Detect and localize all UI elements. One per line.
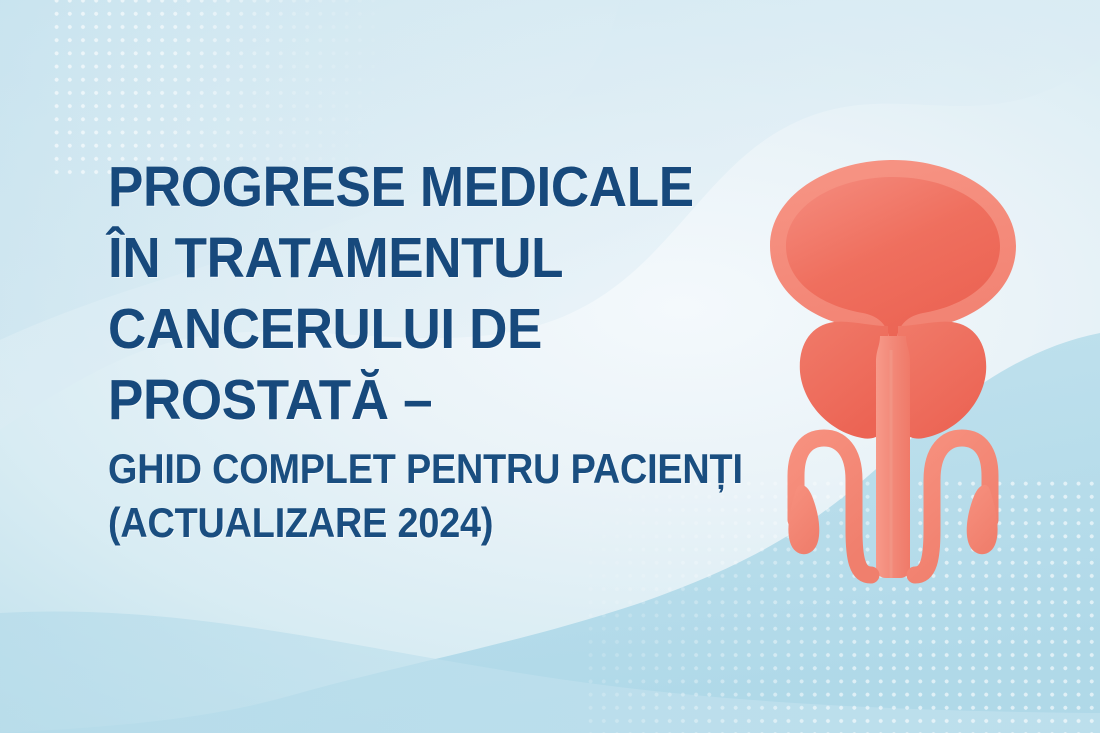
title-line-4: PROSTATĂ – (108, 365, 722, 436)
urethra (876, 336, 910, 578)
banner-canvas: PROGRESE MEDICALE ÎN TRATAMENTUL CANCERU… (0, 0, 1100, 733)
subtitle-line-2: (ACTUALIZARE 2024) (108, 496, 702, 550)
prostate-right-lobe (898, 322, 986, 439)
title-line-3: CANCERULUI DE (108, 294, 722, 365)
subtitle-line-1: GHID COMPLET PENTRU PACIENȚI (108, 442, 702, 496)
title-line-2: ÎN TRATAMENTUL (108, 223, 722, 294)
headline-block: PROGRESE MEDICALE ÎN TRATAMENTUL CANCERU… (108, 152, 768, 550)
page-subtitle: GHID COMPLET PENTRU PACIENȚI (ACTUALIZAR… (108, 442, 768, 550)
prostate-left-lobe (800, 322, 888, 439)
page-title: PROGRESE MEDICALE ÎN TRATAMENTUL CANCERU… (108, 152, 768, 436)
prostate-bladder-anatomy-illustration (762, 150, 1024, 590)
bladder (770, 160, 1016, 350)
title-line-1: PROGRESE MEDICALE (108, 152, 722, 223)
